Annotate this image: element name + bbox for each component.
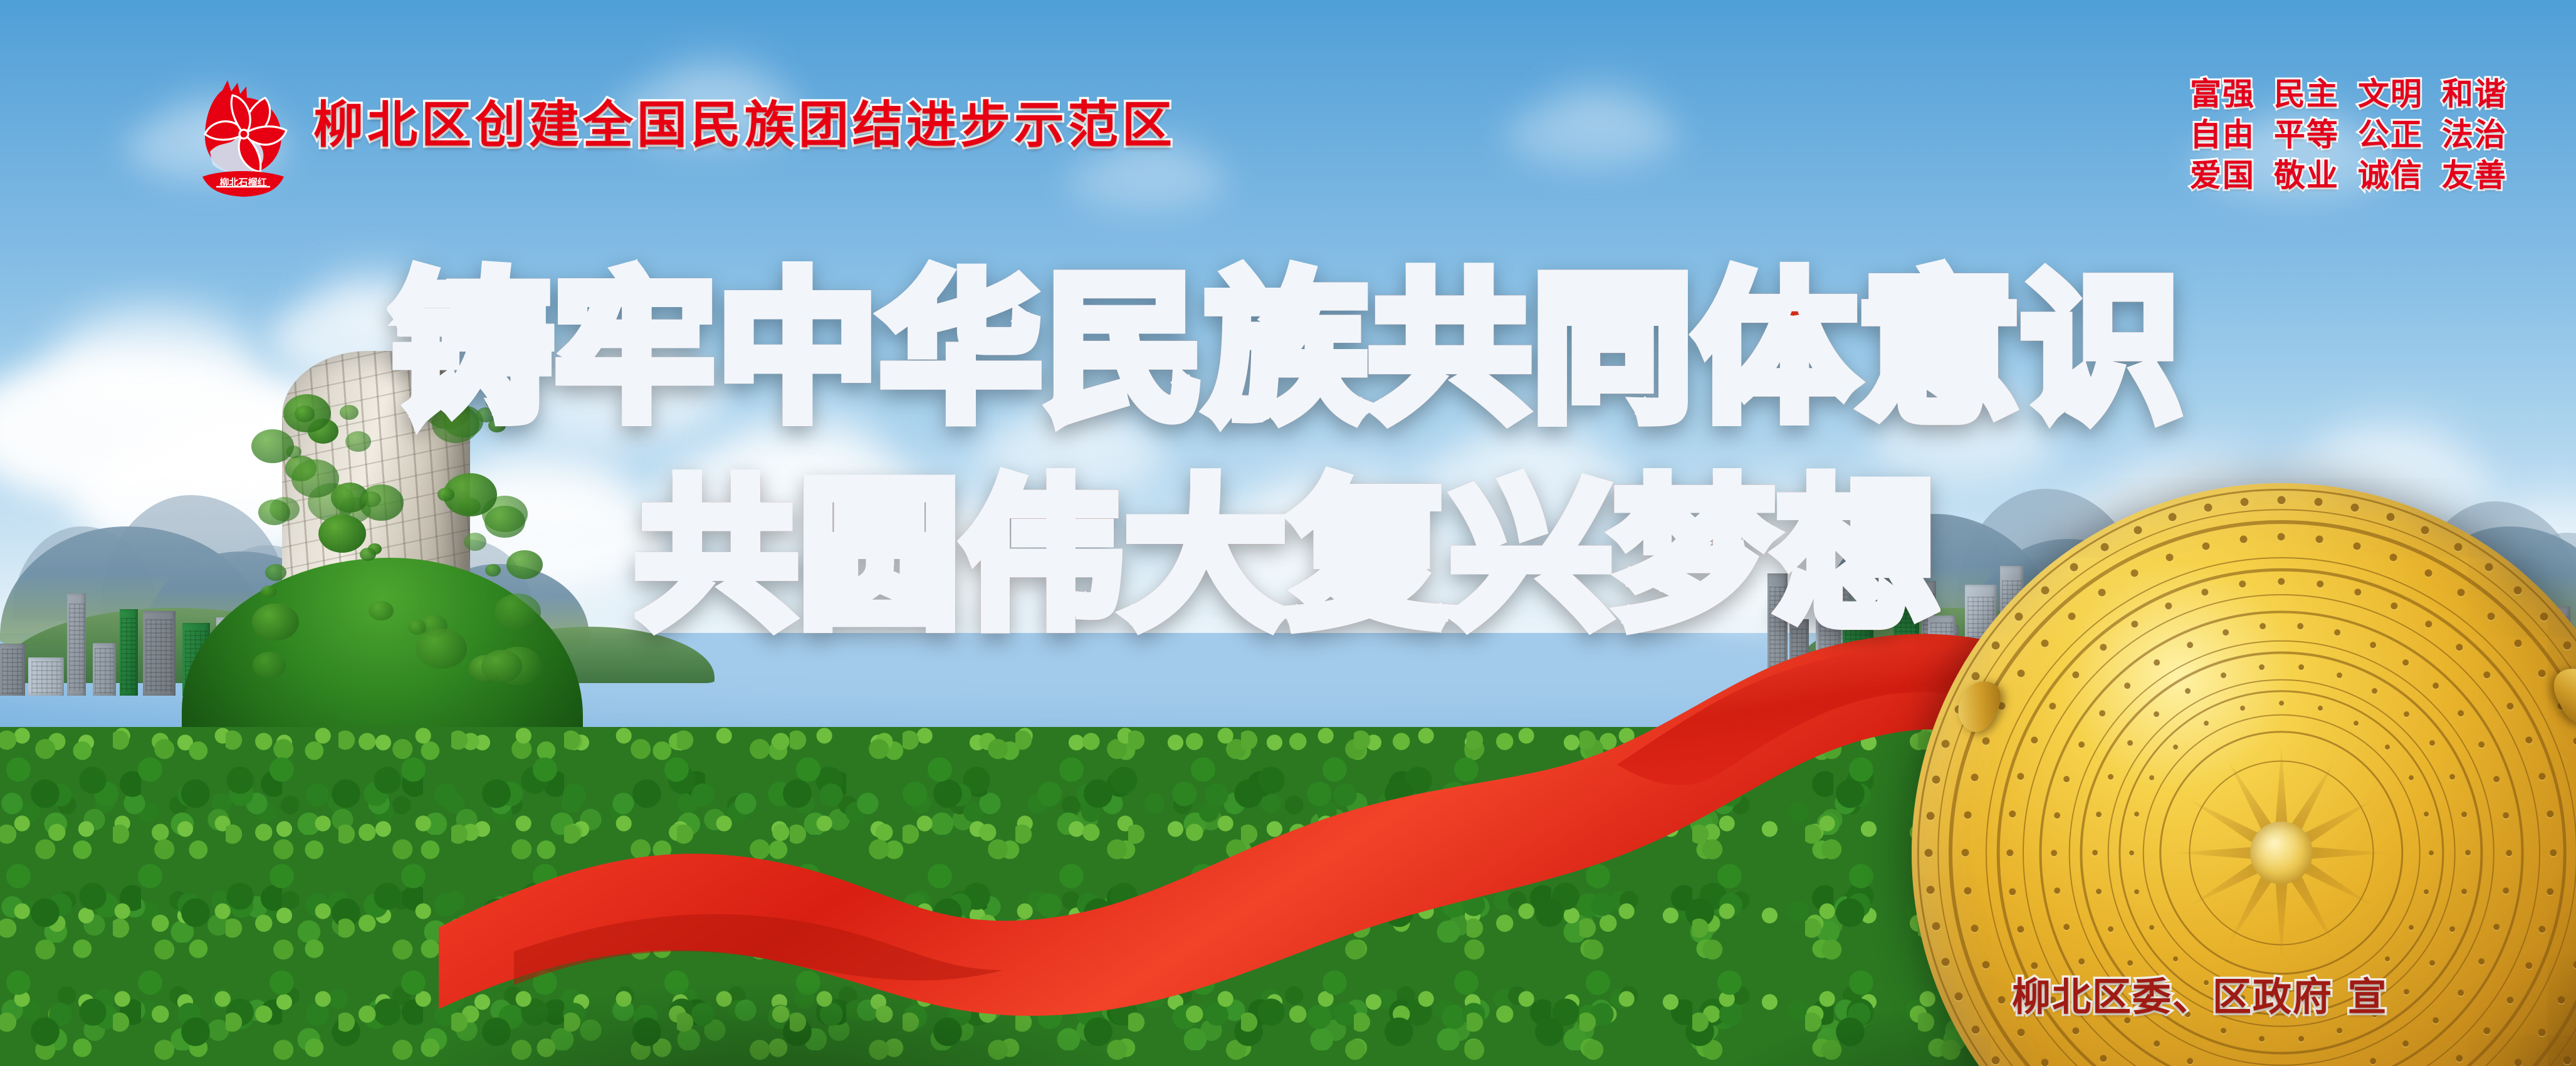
building: [120, 609, 138, 696]
peak-vegetation: [495, 593, 541, 630]
building: [1877, 649, 1907, 686]
page-title: 柳北区创建全国民族团结进步示范区: [313, 100, 1176, 150]
cloud-puff: [1548, 81, 1653, 133]
pomegranate-flower-logo: 柳北石榴红: [184, 79, 301, 204]
logo-ribbon-text: 柳北石榴红: [219, 177, 266, 188]
core-value-item: 文明: [2358, 76, 2423, 112]
core-value-item: 民主: [2274, 76, 2339, 112]
core-socialist-values: 富强民主文明和谐 自由平等公正法治 爱国敬业诚信友善: [2190, 74, 2507, 196]
peak-vegetation: [252, 604, 299, 641]
building: [93, 643, 116, 696]
core-values-row-1: 富强民主文明和谐: [2190, 74, 2507, 115]
building: [28, 657, 64, 696]
core-value-item: 平等: [2274, 117, 2339, 153]
peak-vegetation: [464, 533, 486, 551]
peak-vegetation: [408, 620, 426, 635]
core-value-item: 友善: [2442, 157, 2507, 194]
core-values-row-3: 爱国敬业诚信友善: [2190, 155, 2507, 196]
core-values-row-2: 自由平等公正法治: [2190, 115, 2507, 155]
peak-vegetation: [251, 429, 294, 463]
core-value-item: 诚信: [2358, 157, 2423, 194]
peak-vegetation: [485, 564, 501, 577]
peak-vegetation: [261, 585, 276, 598]
core-value-item: 和谐: [2442, 76, 2507, 112]
propaganda-banner: 柳北石榴红 柳北区创建全国民族团结进步示范区 富强民主文明和谐 自由平等公正法治…: [0, 0, 2576, 1066]
peak-vegetation: [437, 488, 454, 501]
building: [0, 644, 25, 696]
headline-stripe-texture: [392, 269, 2184, 430]
core-value-item: 富强: [2190, 76, 2255, 112]
peak-vegetation: [253, 652, 286, 678]
peak-vegetation: [258, 499, 290, 525]
peak-vegetation: [484, 506, 525, 538]
core-value-item: 法治: [2442, 117, 2507, 153]
core-value-item: 公正: [2358, 117, 2423, 153]
building: [143, 611, 175, 696]
frog-figure: [1950, 674, 2008, 738]
headline-secondary: 共圆伟大复兴梦想: [636, 476, 1940, 637]
attribution-text: 柳北区委、区政府 宣: [2012, 965, 2388, 1022]
peak-vegetation: [481, 650, 522, 682]
headline-stripe-texture: [636, 476, 1940, 637]
peak-vegetation: [416, 629, 467, 669]
peak-vegetation: [506, 550, 542, 579]
frog-figure: [2547, 660, 2576, 730]
headline-primary: 铸牢中华民族共同体意识: [392, 269, 2184, 430]
peak-vegetation: [361, 491, 381, 508]
building: [67, 593, 86, 696]
core-value-item: 爱国: [2190, 157, 2255, 194]
peak-vegetation: [345, 431, 371, 452]
core-value-item: 敬业: [2274, 157, 2339, 194]
peak-vegetation: [295, 405, 315, 422]
core-value-item: 自由: [2190, 117, 2255, 153]
cloud-puff: [2325, 412, 2461, 483]
